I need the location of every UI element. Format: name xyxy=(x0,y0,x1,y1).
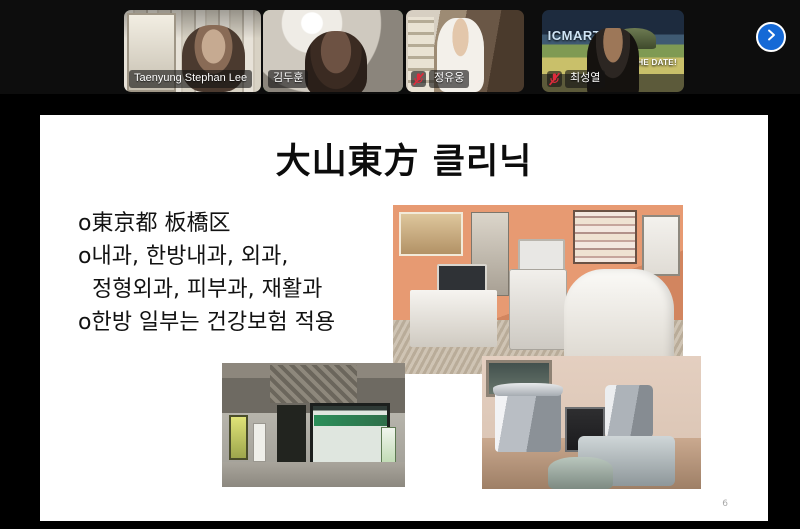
bullet-item-2: o내과, 한방내과, 외과, xyxy=(78,240,408,273)
photo-herbal-decoction-machines xyxy=(482,356,701,489)
participant-name-2: 김두훈 xyxy=(268,70,308,88)
participant-filmstrip: Taenyung Stephan Lee 김두훈 xyxy=(0,0,800,94)
screen-share-window: Taenyung Stephan Lee 김두훈 xyxy=(0,0,800,529)
mic-muted-icon-4 xyxy=(547,71,562,87)
slide-title: 大山東方 클리닉 xyxy=(40,133,768,184)
exterior-stair-entry xyxy=(277,405,306,465)
exterior-pavement xyxy=(222,462,405,487)
exam-equipment-cart xyxy=(509,269,567,350)
chevron-right-icon xyxy=(765,28,778,47)
next-participants-button[interactable] xyxy=(756,22,786,52)
bullet-item-1: o東京都 板橋区 xyxy=(78,207,408,240)
exterior-standee-left xyxy=(253,423,266,463)
bullet-item-3: 정형외과, 피부과, 재활과 xyxy=(78,273,408,306)
presentation-slide: 大山東方 클리닉 o東京都 板橋区 o내과, 한방내과, 외과, 정형외과, 피… xyxy=(40,115,768,521)
participant-tile-4[interactable]: ICMART SAVE THE DATE! 최성열 xyxy=(542,10,684,92)
participant-name-1: Taenyung Stephan Lee xyxy=(129,70,252,88)
exam-chart-rack xyxy=(642,215,680,276)
exam-wall-art xyxy=(399,212,463,256)
decoction-pot-lid xyxy=(493,383,563,396)
participant-tile-3[interactable]: 정유웅 xyxy=(406,10,524,92)
exterior-notice-board xyxy=(229,415,247,460)
decoction-pot-left xyxy=(495,388,561,452)
photo-clinic-building-exterior xyxy=(222,363,405,487)
participant-namebar-2: 김두훈 xyxy=(268,70,308,88)
participant-namebar-1: Taenyung Stephan Lee xyxy=(129,70,252,88)
mic-muted-icon-3 xyxy=(411,71,426,87)
exam-linen-shelf xyxy=(573,210,637,264)
herb-extractor-housing xyxy=(548,457,614,489)
slide-bullet-list: o東京都 板橋区 o내과, 한방내과, 외과, 정형외과, 피부과, 재활과 o… xyxy=(78,207,408,339)
participant-name-3: 정유웅 xyxy=(429,70,469,88)
slide-page-number: 6 xyxy=(722,499,728,509)
bullet-item-4: o한방 일부는 건강보험 적용 xyxy=(78,306,408,339)
participant-namebar-3: 정유웅 xyxy=(411,70,469,88)
exterior-stone-wall xyxy=(270,365,358,402)
participant-tile-2[interactable]: 김두훈 xyxy=(263,10,403,92)
exterior-clinic-sign xyxy=(314,415,387,426)
exterior-glass-front xyxy=(310,403,391,465)
participant-tile-1[interactable]: Taenyung Stephan Lee xyxy=(124,10,261,92)
decoction-pot-right xyxy=(605,385,653,438)
shared-screen-area: 大山東方 클리닉 o東京都 板橋区 o내과, 한방내과, 외과, 정형외과, 피… xyxy=(0,94,800,529)
exam-desk xyxy=(410,290,497,347)
participant-name-4: 최성열 xyxy=(565,70,605,88)
photo-clinic-exam-room xyxy=(393,205,683,374)
participant-namebar-4: 최성열 xyxy=(547,70,605,88)
